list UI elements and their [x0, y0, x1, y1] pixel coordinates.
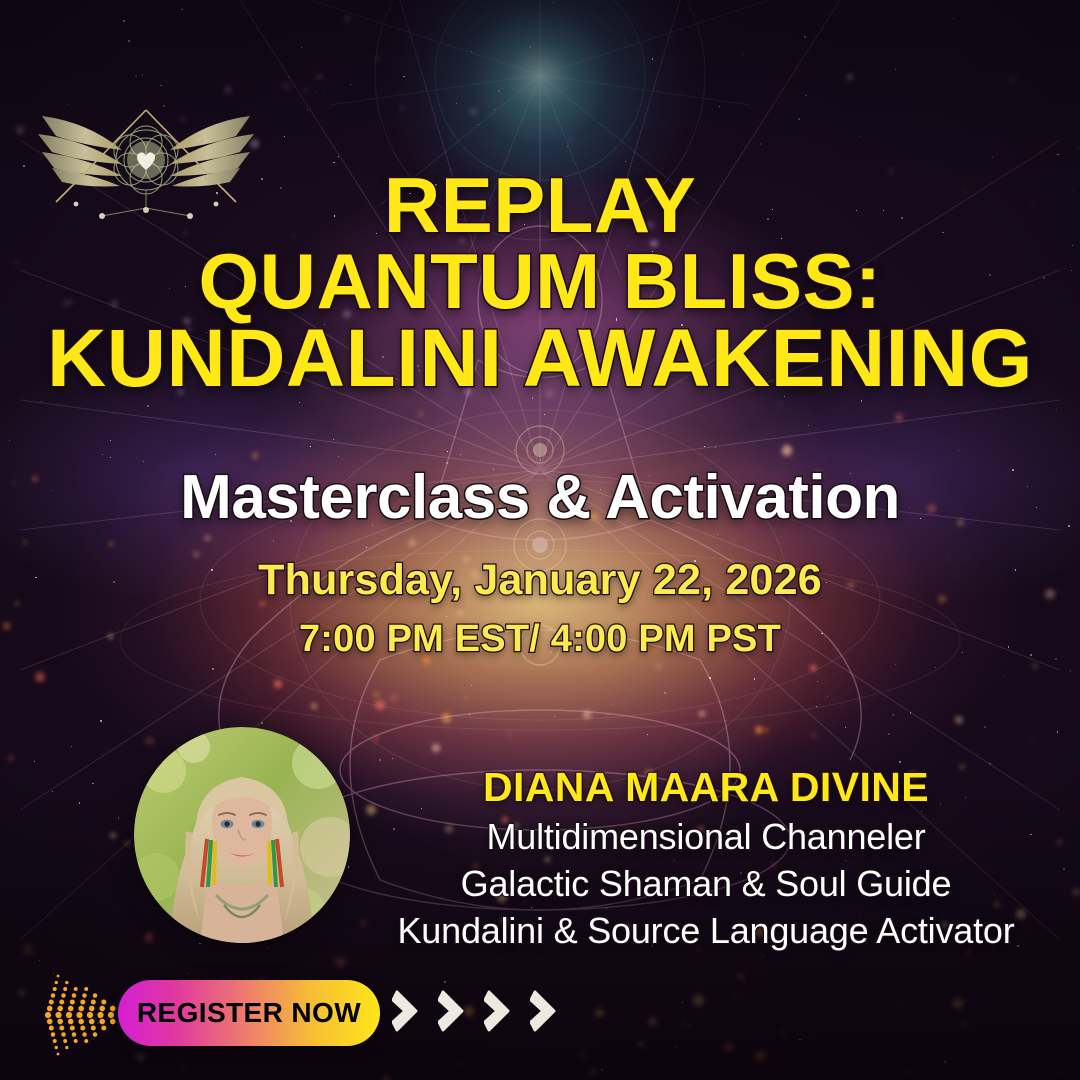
- presenter-portrait: [134, 727, 350, 943]
- subtitle: Masterclass & Activation: [0, 462, 1080, 533]
- chevron-arrow-group: [392, 988, 560, 1034]
- cta-row: REGISTER NOW: [0, 968, 1080, 1064]
- register-now-label: REGISTER NOW: [137, 997, 361, 1029]
- headline-line-2: QUANTUM BLISS:: [0, 244, 1080, 320]
- presenter-name: DIANA MAARA DIVINE: [360, 764, 1052, 811]
- presenter-info: DIANA MAARA DIVINE Multidimensional Chan…: [360, 764, 1052, 952]
- event-promo-poster: REPLAY QUANTUM BLISS: KUNDALINI AWAKENIN…: [0, 0, 1080, 1080]
- presenter-credential-3: Kundalini & Source Language Activator: [360, 910, 1052, 952]
- headline: REPLAY QUANTUM BLISS: KUNDALINI AWAKENIN…: [0, 168, 1080, 399]
- presenter-credential-2: Galactic Shaman & Soul Guide: [360, 863, 1052, 905]
- event-time: 7:00 PM EST/ 4:00 PM PST: [0, 618, 1080, 661]
- headline-line-3: KUNDALINI AWAKENING: [0, 319, 1080, 399]
- chevron-right-icon: [392, 988, 422, 1034]
- chevron-right-icon: [438, 988, 468, 1034]
- chevron-right-icon: [530, 988, 560, 1034]
- headline-line-1: REPLAY: [0, 168, 1080, 244]
- presenter-credential-1: Multidimensional Channeler: [360, 816, 1052, 858]
- chevron-right-icon: [484, 988, 514, 1034]
- event-date: Thursday, January 22, 2026: [0, 556, 1080, 605]
- register-now-button[interactable]: REGISTER NOW: [118, 980, 380, 1046]
